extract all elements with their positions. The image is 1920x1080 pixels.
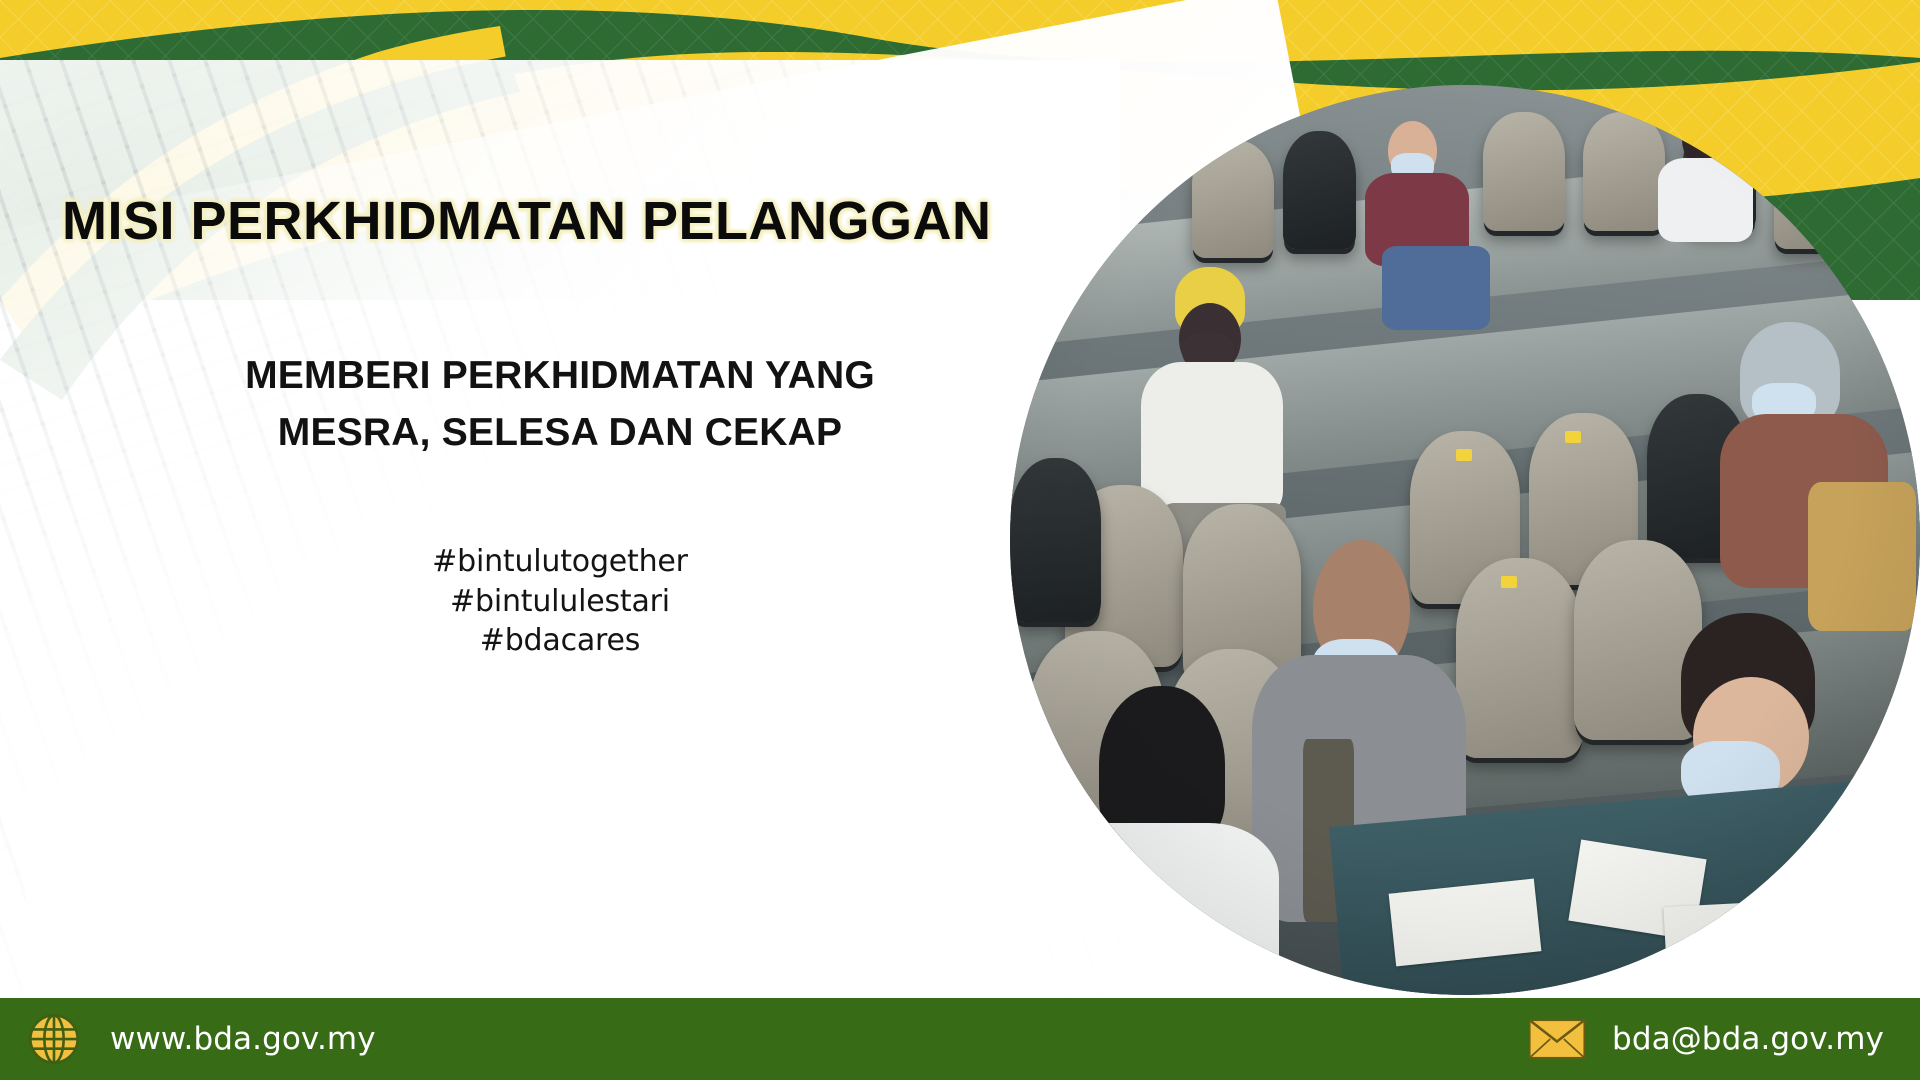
footer-email-group[interactable]: bda@bda.gov.my bbox=[1528, 1018, 1884, 1060]
mission-line-2: MESRA, SELESA DAN CEKAP bbox=[60, 405, 1060, 462]
footer-website-text: www.bda.gov.my bbox=[110, 1021, 376, 1057]
page-title: MISI PERKHIDMATAN PELANGGAN bbox=[62, 193, 1042, 250]
hashtag-bintululestari: #bintululestari bbox=[60, 582, 1060, 622]
mission-line-1: MEMBERI PERKHIDMATAN YANG bbox=[60, 348, 1060, 405]
photo-scene bbox=[1010, 85, 1920, 995]
hashtag-bdacares: #bdacares bbox=[60, 621, 1060, 661]
globe-icon bbox=[26, 1011, 82, 1067]
hashtag-block: #bintulutogether #bintululestari #bdacar… bbox=[60, 542, 1060, 661]
envelope-icon bbox=[1528, 1018, 1586, 1060]
footer-website-group[interactable]: www.bda.gov.my bbox=[26, 1011, 376, 1067]
hashtag-bintulutogether: #bintulutogether bbox=[60, 542, 1060, 582]
footer-email-text: bda@bda.gov.my bbox=[1612, 1021, 1884, 1057]
mission-statement: MEMBERI PERKHIDMATAN YANG MESRA, SELESA … bbox=[60, 348, 1060, 461]
poster-canvas: MISI PERKHIDMATAN PELANGGAN MEMBERI PERK… bbox=[0, 0, 1920, 1080]
footer-bar: www.bda.gov.my bda@bda.gov.my bbox=[0, 998, 1920, 1080]
photo-vignette bbox=[1010, 85, 1920, 995]
auditorium-photo bbox=[1010, 85, 1920, 995]
